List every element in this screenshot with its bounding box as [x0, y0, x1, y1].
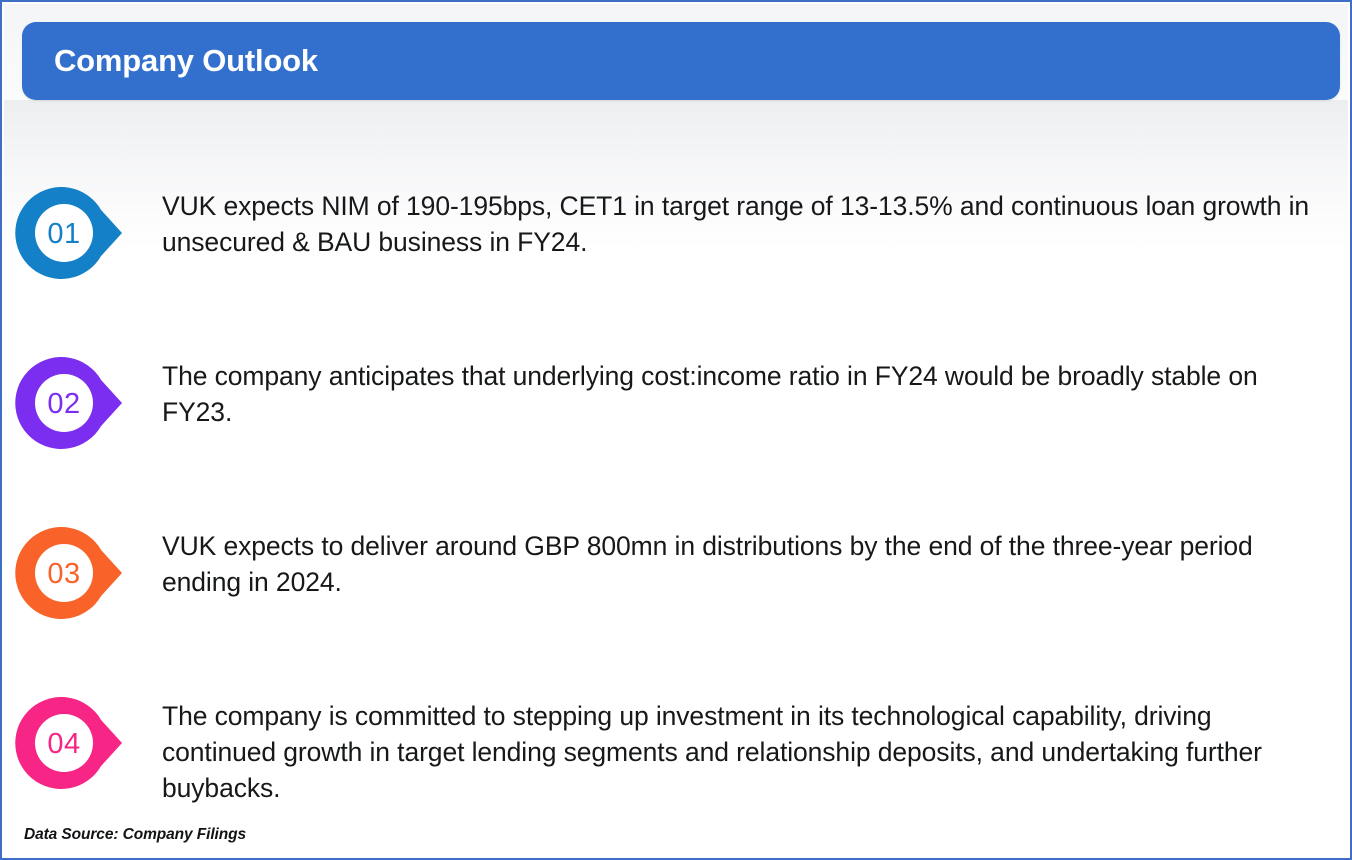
pin-marker-icon: 02	[18, 357, 128, 449]
list-item-text: VUK expects NIM of 190-195bps, CET1 in t…	[162, 188, 1330, 260]
page-title: Company Outlook	[54, 43, 318, 79]
pin-number-label: 04	[47, 728, 80, 760]
slide-canvas: Company Outlook 01 VUK expects NIM of 19…	[0, 0, 1352, 860]
header-band: Company Outlook	[22, 22, 1340, 100]
data-source-note: Data Source: Company Filings	[24, 826, 246, 844]
pin-marker-icon: 04	[18, 697, 128, 789]
list-item: 02 The company anticipates that underlyi…	[2, 332, 1350, 502]
pin-marker-icon: 03	[18, 527, 128, 619]
pin-number-label: 03	[47, 558, 80, 590]
pin-number-label: 02	[47, 388, 80, 420]
list-item: 04 The company is committed to stepping …	[2, 672, 1350, 832]
list-item-text: The company anticipates that underlying …	[162, 358, 1330, 430]
outlook-list: 01 VUK expects NIM of 190-195bps, CET1 i…	[2, 162, 1350, 832]
list-item-text: VUK expects to deliver around GBP 800mn …	[162, 528, 1330, 600]
pin-marker-icon: 01	[18, 187, 128, 279]
pin-number-label: 01	[47, 218, 80, 250]
list-item-text: The company is committed to stepping up …	[162, 698, 1330, 806]
list-item: 03 VUK expects to deliver around GBP 800…	[2, 502, 1350, 672]
list-item: 01 VUK expects NIM of 190-195bps, CET1 i…	[2, 162, 1350, 332]
